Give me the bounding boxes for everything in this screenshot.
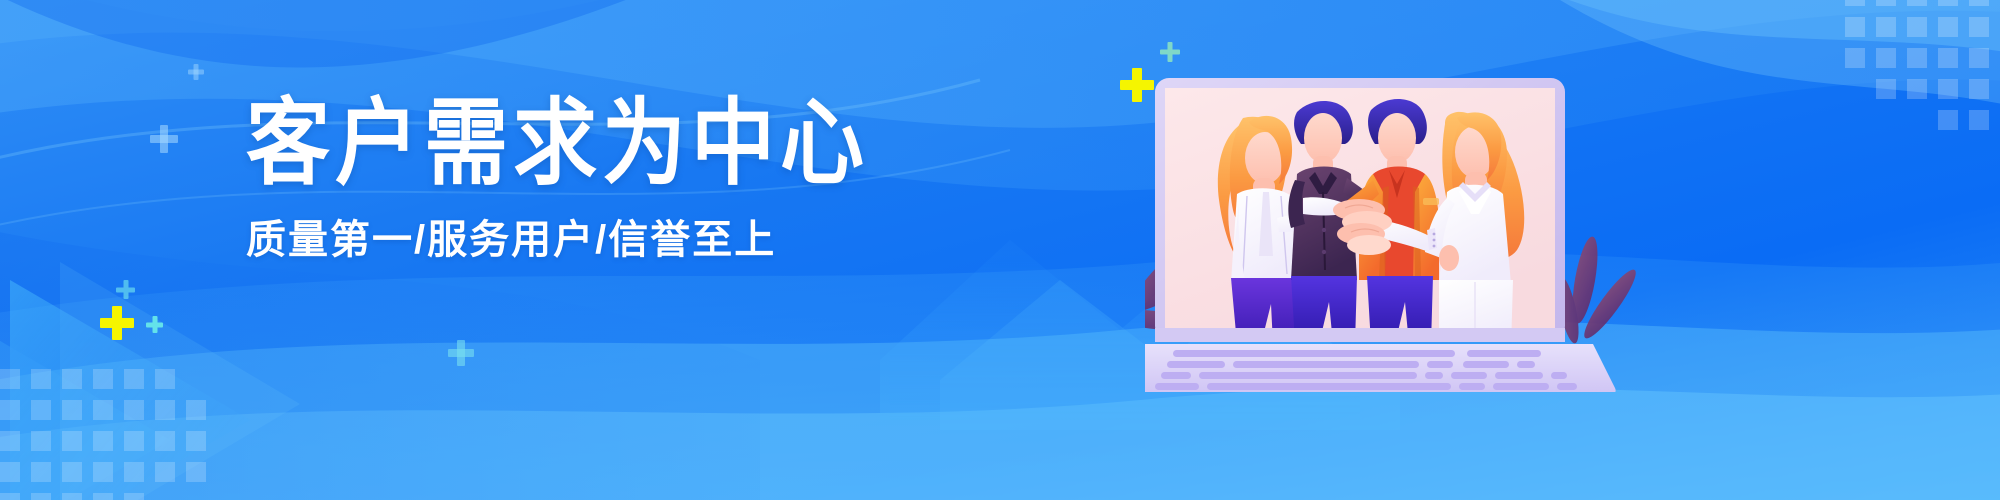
plus-cyan-bottom-mid: [448, 340, 474, 366]
square-grid-top-right: [1845, 0, 1989, 130]
plus-yellow-large-left: [100, 306, 134, 340]
promo-banner: 客户需求为中心 质量第一/服务用户/信誉至上: [0, 0, 2000, 500]
square-grid-bottom-left: [0, 369, 206, 500]
plus-cyan-small-right: [1160, 42, 1180, 62]
leaf-cluster-right: [1553, 235, 1642, 345]
laptop-hinge: [1155, 328, 1565, 342]
plus-cyan-small-left: [146, 316, 163, 333]
plus-yellow-large-right: [1120, 68, 1154, 102]
plus-soft-upper-left-small: [188, 64, 204, 80]
banner-text-block: 客户需求为中心 质量第一/服务用户/信誉至上: [246, 96, 886, 260]
plus-soft-upper-left: [150, 125, 178, 153]
plus-cyan-mid-left: [116, 280, 135, 299]
teamwork-laptop-illustration: [1145, 52, 1675, 392]
page-title: 客户需求为中心: [246, 96, 886, 190]
banner-subtitle: 质量第一/服务用户/信誉至上: [246, 220, 886, 260]
